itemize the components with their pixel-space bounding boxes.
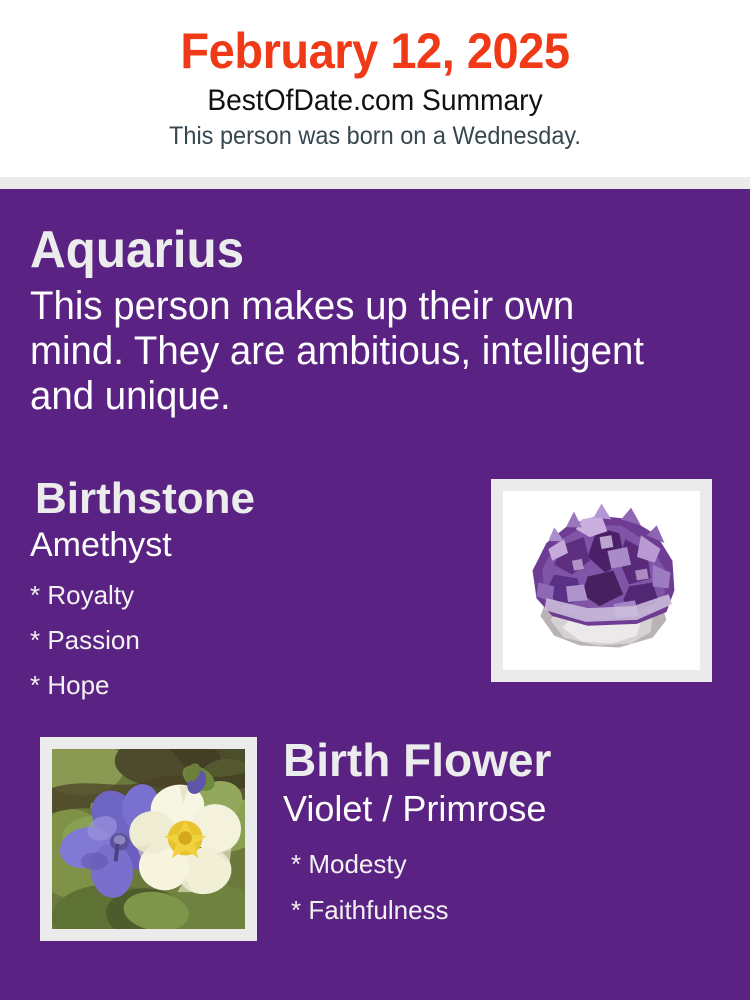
birthflower-trait-list: * Modesty * Faithfulness <box>283 831 733 933</box>
amethyst-crystal-icon <box>503 491 700 670</box>
list-item: * Faithfulness <box>283 887 733 933</box>
birthstone-name: Amethyst <box>30 524 470 565</box>
birthstone-heading: Birthstone <box>30 474 470 524</box>
page-title: February 12, 2025 <box>23 0 728 80</box>
birthflower-name: Violet / Primrose <box>283 786 733 831</box>
violet-primrose-flower-icon <box>52 749 245 929</box>
zodiac-section: Aquarius This person makes up their own … <box>30 222 690 419</box>
list-item: * Hope <box>30 663 470 708</box>
birthstone-trait-list: * Royalty * Passion * Hope <box>30 565 470 708</box>
header-subtitle: This person was born on a Wednesday. <box>23 119 728 151</box>
amethyst-photo <box>503 491 700 670</box>
list-item: * Passion <box>30 618 470 663</box>
birthflower-image <box>52 749 245 929</box>
list-item: * Royalty <box>30 573 470 618</box>
birthflower-section: Birth Flower Violet / Primrose * Modesty… <box>283 734 733 933</box>
summary-card: February 12, 2025 BestOfDate.com Summary… <box>0 0 750 1000</box>
zodiac-description: This person makes up their own mind. The… <box>30 278 654 419</box>
birthstone-image-frame <box>491 479 712 682</box>
list-item: * Modesty <box>283 841 733 887</box>
birthstone-image <box>503 491 700 670</box>
birthstone-section: Birthstone Amethyst * Royalty * Passion … <box>30 474 470 708</box>
zodiac-sign-title: Aquarius <box>30 222 657 278</box>
birthflower-image-frame <box>40 737 257 941</box>
site-name: BestOfDate.com Summary <box>23 80 728 119</box>
header-divider <box>0 177 750 189</box>
birthflower-heading: Birth Flower <box>283 734 733 786</box>
header: February 12, 2025 BestOfDate.com Summary… <box>0 0 750 177</box>
content-area: Aquarius This person makes up their own … <box>0 189 750 1000</box>
